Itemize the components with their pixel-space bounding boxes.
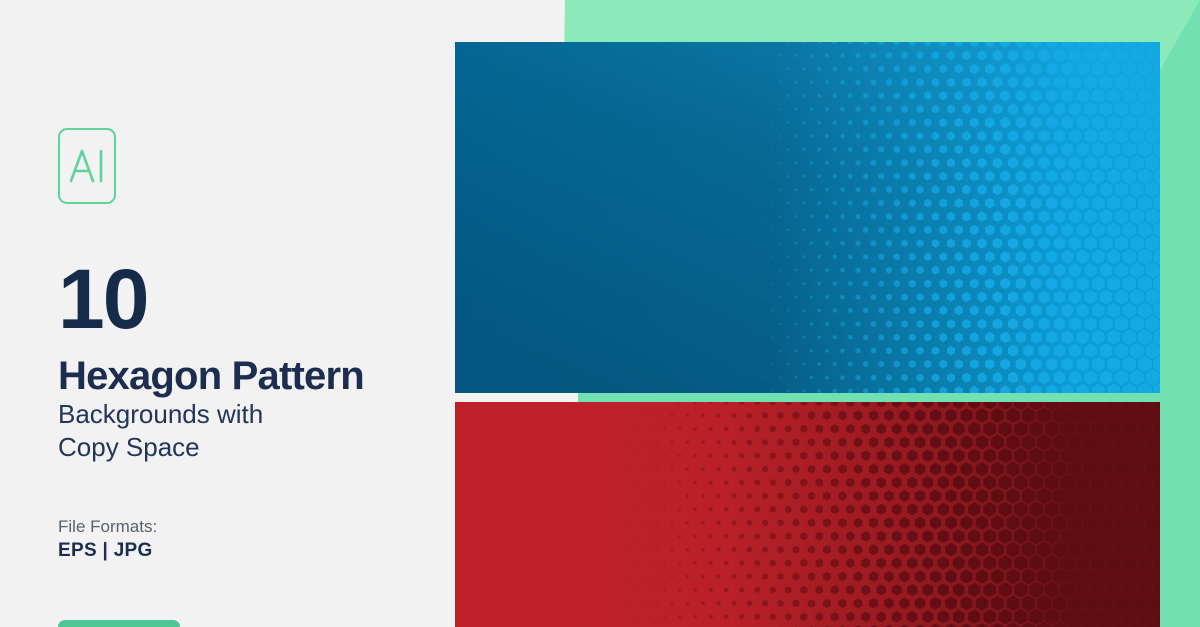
blue-hexagon-preview[interactable] [455, 42, 1160, 393]
ai-letters-icon [67, 144, 107, 188]
red-hexagon-preview[interactable] [455, 402, 1160, 627]
file-formats-value: EPS | JPG [58, 539, 153, 563]
page-title: Hexagon Pattern [58, 352, 364, 400]
ai-format-badge [58, 128, 116, 204]
cta-button[interactable] [58, 620, 180, 627]
item-count: 10 [58, 257, 147, 341]
info-column: 10 Hexagon Pattern Backgrounds with Copy… [58, 0, 438, 627]
page-subtitle: Backgrounds with Copy Space [58, 398, 263, 464]
poster-canvas: 10 Hexagon Pattern Backgrounds with Copy… [0, 0, 1200, 627]
file-formats-label: File Formats: [58, 516, 157, 538]
